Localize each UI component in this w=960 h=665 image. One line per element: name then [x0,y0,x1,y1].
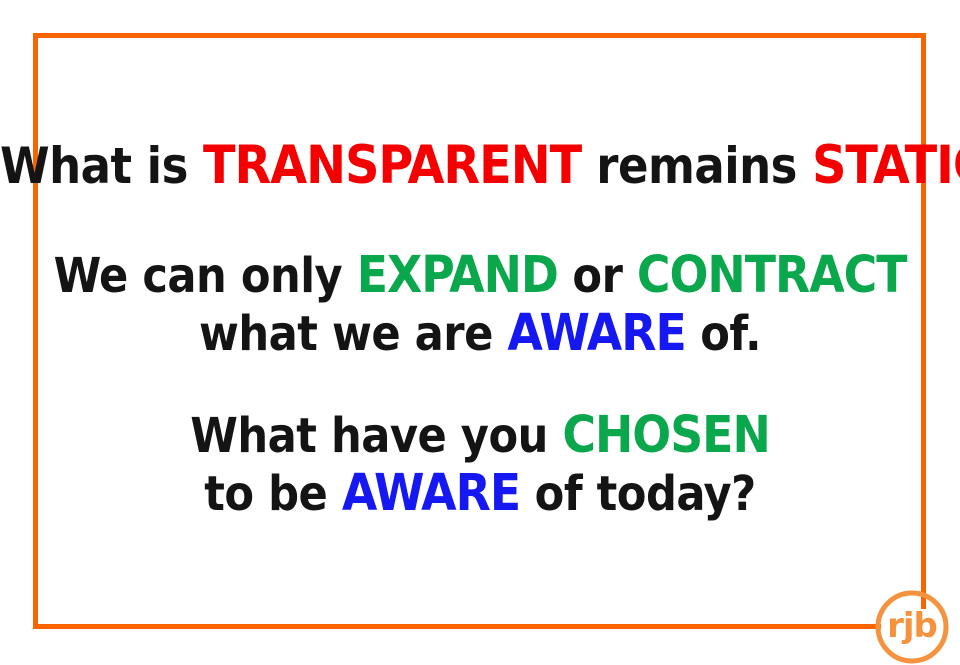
quote-line-1-highlight-static: STATIC [812,135,960,196]
quote-line-5-part1: to be [204,466,342,522]
quote-line-2: We can only EXPAND or CONTRACT [0,250,960,301]
quote-line-3-part1: what we are [199,306,507,362]
quote-line-2-highlight-expand: EXPAND [357,245,558,304]
border-bottom [33,624,881,629]
poster-canvas: What is TRANSPARENT remains STATIC. We c… [0,0,960,665]
quote-line-3: what we are AWARE of. [0,308,960,359]
quote-line-1-highlight-transparent: TRANSPARENT [203,135,581,196]
quote-line-3-highlight-aware: AWARE [507,303,685,362]
quote-line-1-part2: remains [581,137,812,195]
quote-line-4: What have you CHOSEN [0,410,960,461]
quote-line-5-highlight-aware: AWARE [342,463,520,522]
quote-line-3-part2: of. [686,306,761,362]
quote-line-1: What is TRANSPARENT remains STATIC. [0,139,960,192]
quote-line-2-part1: We can only [54,248,357,304]
rjb-logo[interactable]: rjb [874,589,950,665]
quote-line-4-part1: What have you [190,408,562,464]
quote-line-2-highlight-contract: CONTRACT [637,245,907,304]
quote-line-4-highlight-chosen: CHOSEN [562,405,769,464]
quote-line-2-part2: or [558,248,637,304]
logo-wordmark: rjb [874,589,950,665]
quote-line-5-part2: of today? [520,466,756,522]
quote-line-5: to be AWARE of today? [0,468,960,519]
border-top [33,33,926,38]
quote-line-1-part1: What is [0,137,203,195]
